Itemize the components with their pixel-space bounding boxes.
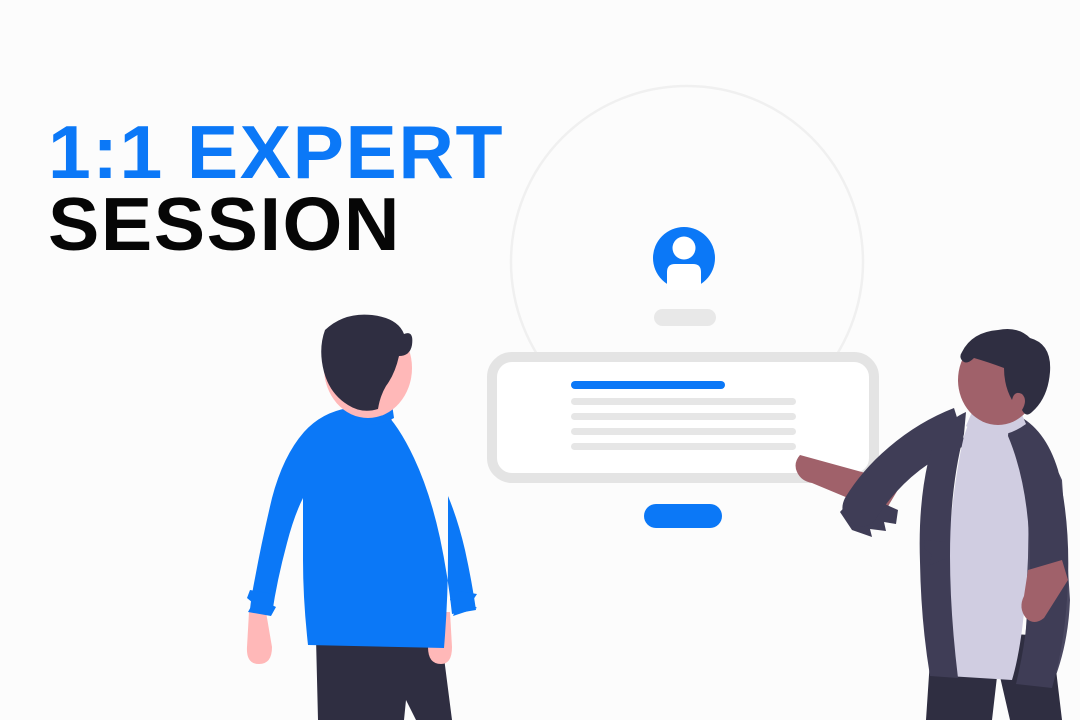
hero-illustration — [0, 0, 1080, 720]
card-text-line — [571, 443, 796, 450]
card-text-line — [571, 413, 796, 420]
name-placeholder-pill — [654, 309, 716, 326]
avatar-head-icon — [673, 237, 696, 260]
avatar-shoulders-icon — [667, 264, 701, 290]
headline-line-primary: 1:1 EXPERT — [48, 118, 504, 187]
banner-canvas: 1:1 EXPERT SESSION — [0, 0, 1080, 720]
card-text-line — [571, 398, 796, 405]
card-accent-line — [571, 381, 725, 389]
card-text-line — [571, 428, 796, 435]
headline-block: 1:1 EXPERT SESSION — [48, 118, 487, 258]
headline-line-secondary: SESSION — [48, 190, 504, 259]
cta-pill-button[interactable] — [644, 504, 722, 528]
